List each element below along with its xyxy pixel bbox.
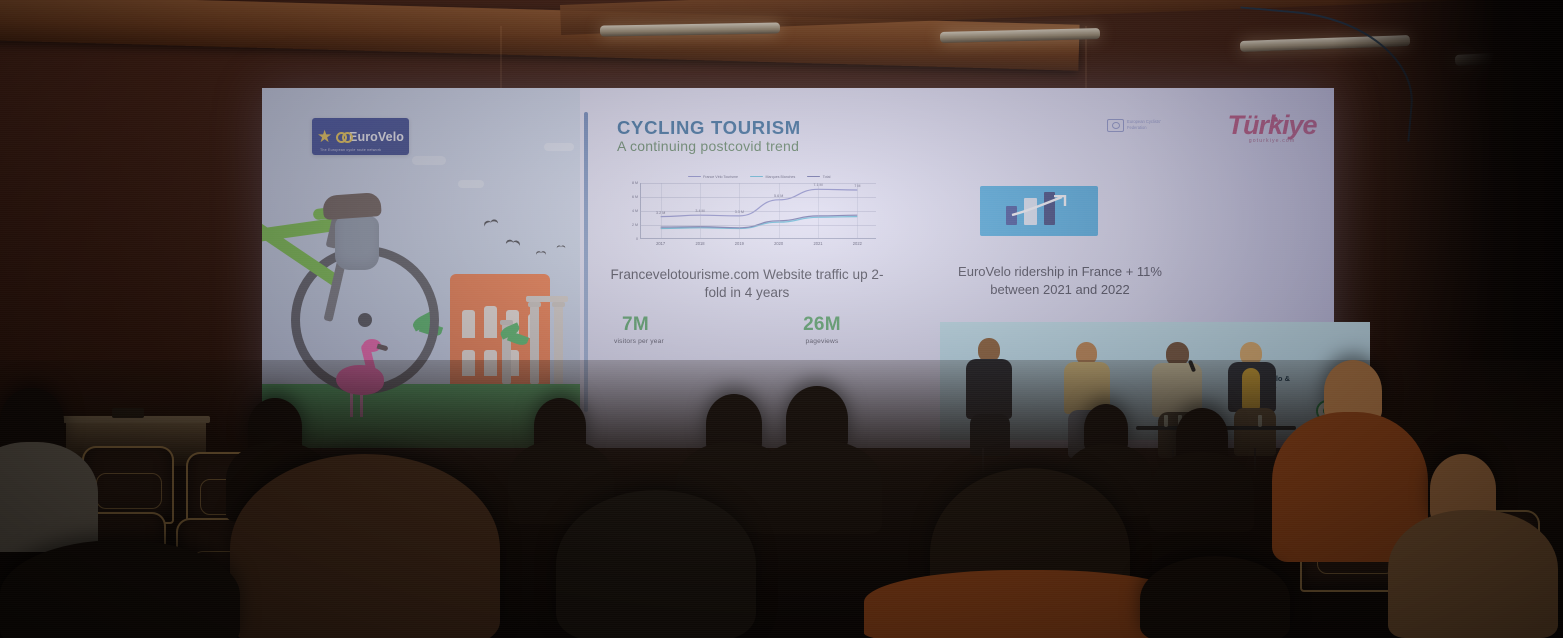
- chart-gridline-vertical: [857, 183, 858, 238]
- audience-shoulders: [1388, 510, 1558, 638]
- audience-shoulders: [752, 440, 882, 534]
- chart-y-tick-label: 2 M: [632, 223, 638, 227]
- chart-gridline: [641, 225, 876, 226]
- chart-gridline-vertical: [818, 183, 819, 238]
- partner-mark-icon: [1107, 119, 1124, 132]
- chart-data-label: 5.6 M: [774, 194, 783, 198]
- cloud-2: [458, 180, 484, 188]
- chart-data-label: 3.3 M: [735, 210, 744, 214]
- bike-bag-roll: [322, 192, 382, 220]
- bar-chart-growth-icon: [980, 186, 1098, 236]
- chart-data-label: 3.4 M: [695, 209, 704, 213]
- stat-pageviews-label: pageviews: [752, 338, 892, 345]
- chart-data-label: 7 M: [854, 184, 860, 188]
- cloud-3: [544, 143, 574, 151]
- legend-swatch: [807, 176, 820, 178]
- chart-y-tick-label: 6 M: [632, 195, 638, 199]
- flamingo-beak: [377, 344, 389, 352]
- legend-label: Total: [823, 175, 831, 179]
- chart-x-tick-label: 2017: [656, 241, 665, 246]
- chart-legend-item: Marques Blanches: [750, 175, 795, 179]
- chart-gridline: [641, 211, 876, 212]
- cloud-1: [412, 156, 446, 165]
- chart-y-tick-label: 8 M: [632, 181, 638, 185]
- slide-title: CYCLING TOURISM: [617, 117, 801, 139]
- conference-scene: ★ EuroVelo The European cycle route netw…: [0, 0, 1563, 638]
- left-caption: Francevelotourisme.com Website traffic u…: [602, 266, 892, 302]
- chart-x-tick-label: 2022: [853, 241, 862, 246]
- chart-legend-item: Total: [807, 175, 830, 179]
- chart-x-tick-label: 2018: [695, 241, 704, 246]
- eurovelo-wheels-icon: [336, 130, 345, 144]
- audience-head-foreground: [1140, 556, 1290, 638]
- stat-visitors: 7M visitors per year: [612, 314, 752, 345]
- stat-pageviews-value: 26M: [752, 314, 892, 336]
- bike-pannier-bag: [335, 216, 379, 270]
- growth-arrow-icon: [1010, 195, 1070, 217]
- legend-swatch: [750, 176, 763, 178]
- audience-area: [0, 360, 1563, 638]
- chart-legend-item: France Vélo Tourisme: [688, 175, 738, 179]
- website-traffic-chart: France Vélo TourismeMarques BlanchesTota…: [614, 172, 882, 254]
- chart-x-tick-label: 2019: [735, 241, 744, 246]
- legend-swatch: [688, 176, 701, 178]
- legend-label: France Vélo Tourisme: [703, 175, 738, 179]
- chart-gridline: [641, 183, 876, 184]
- bike-hub: [358, 313, 372, 327]
- legend-label: Marques Blanches: [766, 175, 796, 179]
- eurovelo-logo: ★ EuroVelo The European cycle route netw…: [312, 118, 409, 155]
- stat-visitors-label: visitors per year: [612, 338, 752, 345]
- chart-x-tick-label: 2021: [813, 241, 822, 246]
- chart-legend: France Vélo TourismeMarques BlanchesTota…: [636, 172, 882, 181]
- stats-row: 7M visitors per year 26M pageviews: [612, 314, 892, 345]
- slide-subtitle: A continuing postcovid trend: [617, 138, 799, 154]
- audience-head-foreground: [230, 454, 500, 638]
- chart-series-line: [661, 189, 858, 216]
- audience-head-foreground: [556, 490, 756, 638]
- stat-pageviews: 26M pageviews: [752, 314, 892, 345]
- eurovelo-logo-tagline: The European cycle route network: [320, 148, 381, 152]
- chart-y-tick-label: 0: [636, 237, 638, 241]
- chart-plot-area: 02 M4 M6 M8 M2017201820192020202120223.2…: [640, 183, 876, 239]
- chart-data-label: 3.2 M: [656, 211, 665, 215]
- chart-data-label: 7.1 M: [813, 183, 822, 187]
- chart-x-tick-label: 2020: [774, 241, 783, 246]
- audience-shoulders: [1150, 452, 1254, 532]
- chart-gridline: [641, 197, 876, 198]
- chart-y-tick-label: 4 M: [632, 209, 638, 213]
- chart-gridline-vertical: [779, 183, 780, 238]
- star-icon: ★: [317, 128, 332, 145]
- stat-visitors-value: 7M: [612, 314, 752, 336]
- eurovelo-logo-name: EuroVelo: [349, 130, 404, 144]
